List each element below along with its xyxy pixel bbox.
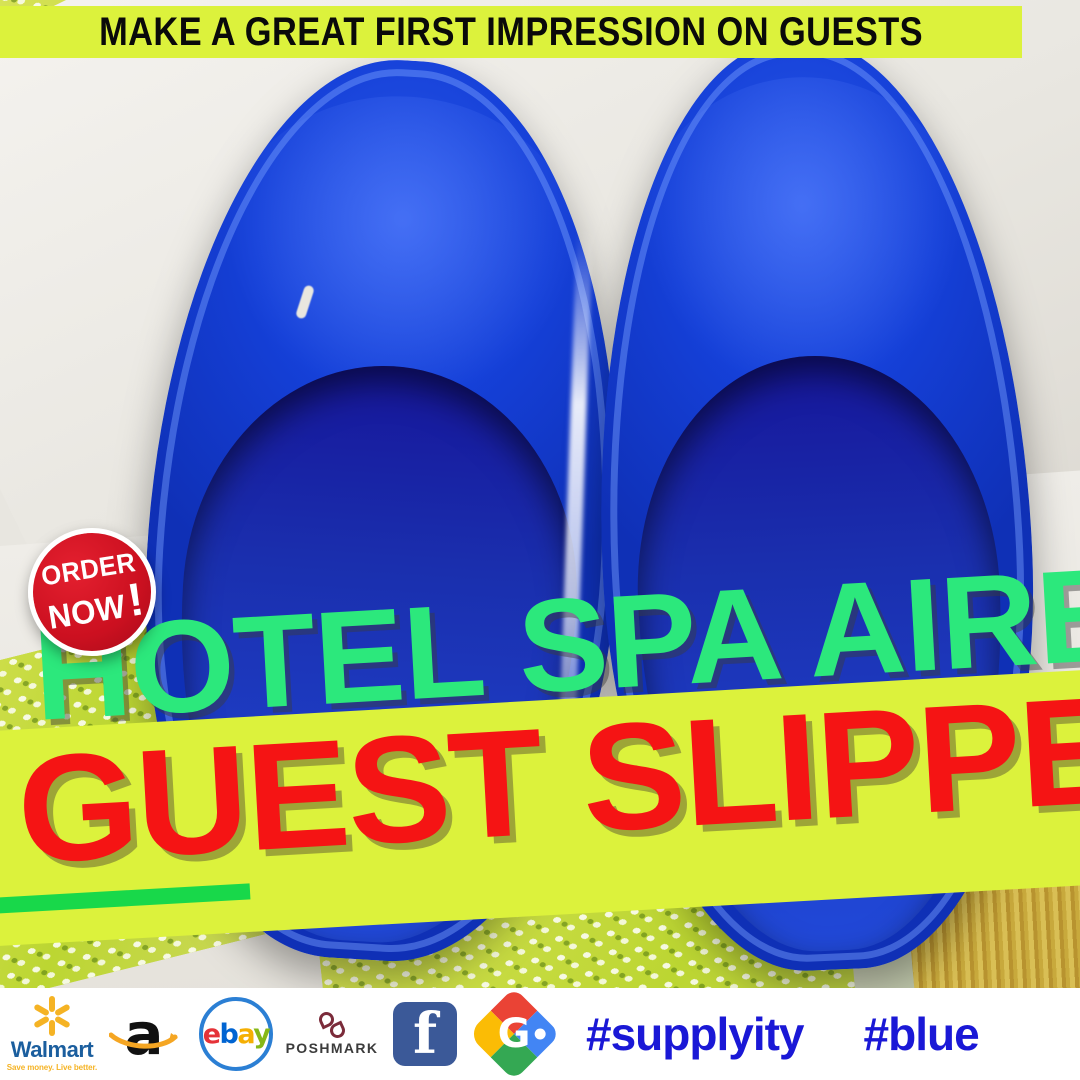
order-now-badge-line-2: NOW	[45, 589, 127, 634]
ebay-letter-e: e	[203, 1019, 220, 1050]
ebay-letter-a: a	[237, 1019, 253, 1050]
walmart-wordmark: Walmart	[11, 1037, 93, 1063]
poshmark-mark-icon	[319, 1012, 345, 1038]
walmart-spark-icon	[30, 996, 74, 1036]
poshmark-wordmark: POSHMARK	[286, 1040, 379, 1056]
facebook-logo[interactable]: f	[382, 1002, 468, 1066]
walmart-logo[interactable]: Walmart Save money. Live better.	[6, 996, 98, 1072]
headline-group: HOTEL SPA AIRBNB GUEST SLIPPERS	[0, 0, 1080, 990]
marketplace-logo-bar: Walmart Save money. Live better. a ebay	[0, 988, 1080, 1080]
hashtag-supplyity[interactable]: #supplyity	[586, 1007, 804, 1061]
facebook-icon: f	[393, 1002, 457, 1066]
amazon-logo[interactable]: a	[98, 1011, 190, 1057]
ebay-circle-icon: ebay	[199, 997, 273, 1071]
amazon-smile-icon	[109, 1029, 179, 1051]
ebay-wordmark: ebay	[203, 1019, 270, 1050]
ebay-logo[interactable]: ebay	[190, 997, 282, 1071]
promo-image: MAKE A GREAT FIRST IMPRESSION ON GUESTS …	[0, 0, 1080, 1080]
facebook-f-glyph: f	[393, 1002, 457, 1066]
poshmark-logo[interactable]: POSHMARK	[282, 1012, 382, 1056]
ebay-letter-y: y	[253, 1019, 269, 1050]
google-shopping-tag-icon: G	[467, 987, 560, 1080]
ebay-letter-b: b	[220, 1019, 238, 1050]
hashtag-blue[interactable]: #blue	[864, 1007, 979, 1061]
google-shopping-logo[interactable]: G	[468, 1001, 560, 1067]
walmart-tagline: Save money. Live better.	[7, 1063, 97, 1072]
order-now-badge-exclamation: !	[124, 575, 146, 623]
hashtag-group: #supplyity #blue	[586, 1007, 979, 1061]
